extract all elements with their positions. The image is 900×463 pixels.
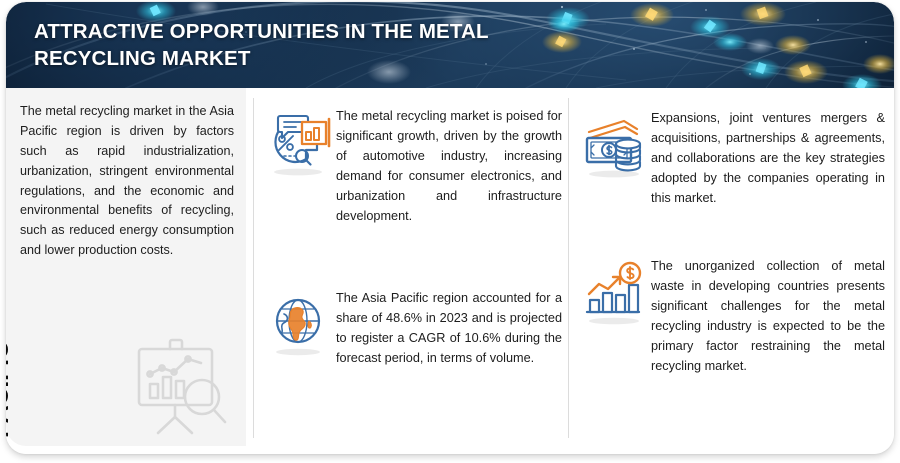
region-label-text: ASIAPACIFIC [6, 341, 14, 438]
growth-chart-dollar-icon [577, 256, 649, 328]
page-title: Attractive opportunities in the metal re… [34, 18, 534, 72]
infographic-card: Attractive opportunities in the metal re… [6, 2, 894, 454]
money-cash-coins-icon [577, 108, 649, 180]
money-cash-coins-icon-wrap [577, 108, 649, 180]
growth-chart-dollar-icon-wrap [577, 256, 649, 328]
insight-block-strategies: Expansions, joint ventures mergers & acq… [577, 108, 885, 208]
content-area: The metal recycling market in the Asia P… [6, 88, 894, 454]
region-label-line2: PACIFIC [6, 341, 14, 438]
insight-block-restraints: The unorganized collection of metal wast… [577, 256, 885, 376]
insight-text: The metal recycling market is poised for… [336, 106, 562, 226]
market-research-analysis-icon [262, 106, 334, 178]
right-column: Expansions, joint ventures mergers & acq… [577, 88, 885, 446]
header-banner: Attractive opportunities in the metal re… [6, 2, 894, 88]
globe-icon [262, 288, 334, 360]
left-panel-paragraph: The metal recycling market in the Asia P… [20, 102, 234, 261]
region-label: ASIAPACIFIC [14, 320, 132, 438]
insight-block-regional-share: The Asia Pacific region accounted for a … [262, 288, 562, 368]
insight-text: The unorganized collection of metal wast… [651, 256, 885, 376]
insight-block-growth-drivers: The metal recycling market is poised for… [262, 106, 562, 226]
divider-middle-right [568, 98, 569, 438]
insight-text: Expansions, joint ventures mergers & acq… [651, 108, 885, 208]
presentation-chart-magnifier-icon [122, 334, 232, 440]
insight-text: The Asia Pacific region accounted for a … [336, 288, 562, 368]
middle-column: The metal recycling market is poised for… [262, 88, 562, 446]
globe-icon-wrap [262, 288, 334, 360]
left-region-panel: The metal recycling market in the Asia P… [6, 88, 246, 446]
divider-left-middle [253, 98, 254, 438]
market-research-analysis-icon-wrap [262, 106, 334, 178]
